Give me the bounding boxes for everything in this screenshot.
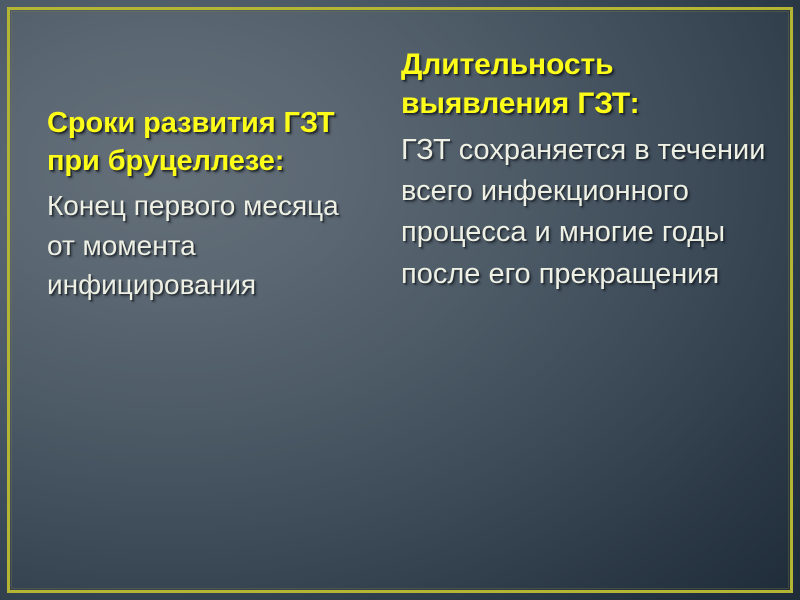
slide-content-area: Сроки развития ГЗТ при бруцеллезе: Конец…	[11, 11, 789, 589]
right-column-body: ГЗТ сохраняется в течении всего инфекцио…	[401, 130, 767, 295]
presentation-slide: Сроки развития ГЗТ при бруцеллезе: Конец…	[0, 0, 800, 600]
left-column: Сроки развития ГЗТ при бруцеллезе: Конец…	[11, 11, 387, 304]
left-column-heading: Сроки развития ГЗТ при бруцеллезе:	[47, 105, 369, 180]
right-column: Длительность выявления ГЗТ: ГЗТ сохраняе…	[387, 11, 789, 295]
right-column-heading: Длительность выявления ГЗТ:	[401, 45, 767, 123]
left-column-body: Конец первого месяца от момента инфициро…	[47, 186, 369, 304]
two-column-layout: Сроки развития ГЗТ при бруцеллезе: Конец…	[11, 11, 789, 589]
